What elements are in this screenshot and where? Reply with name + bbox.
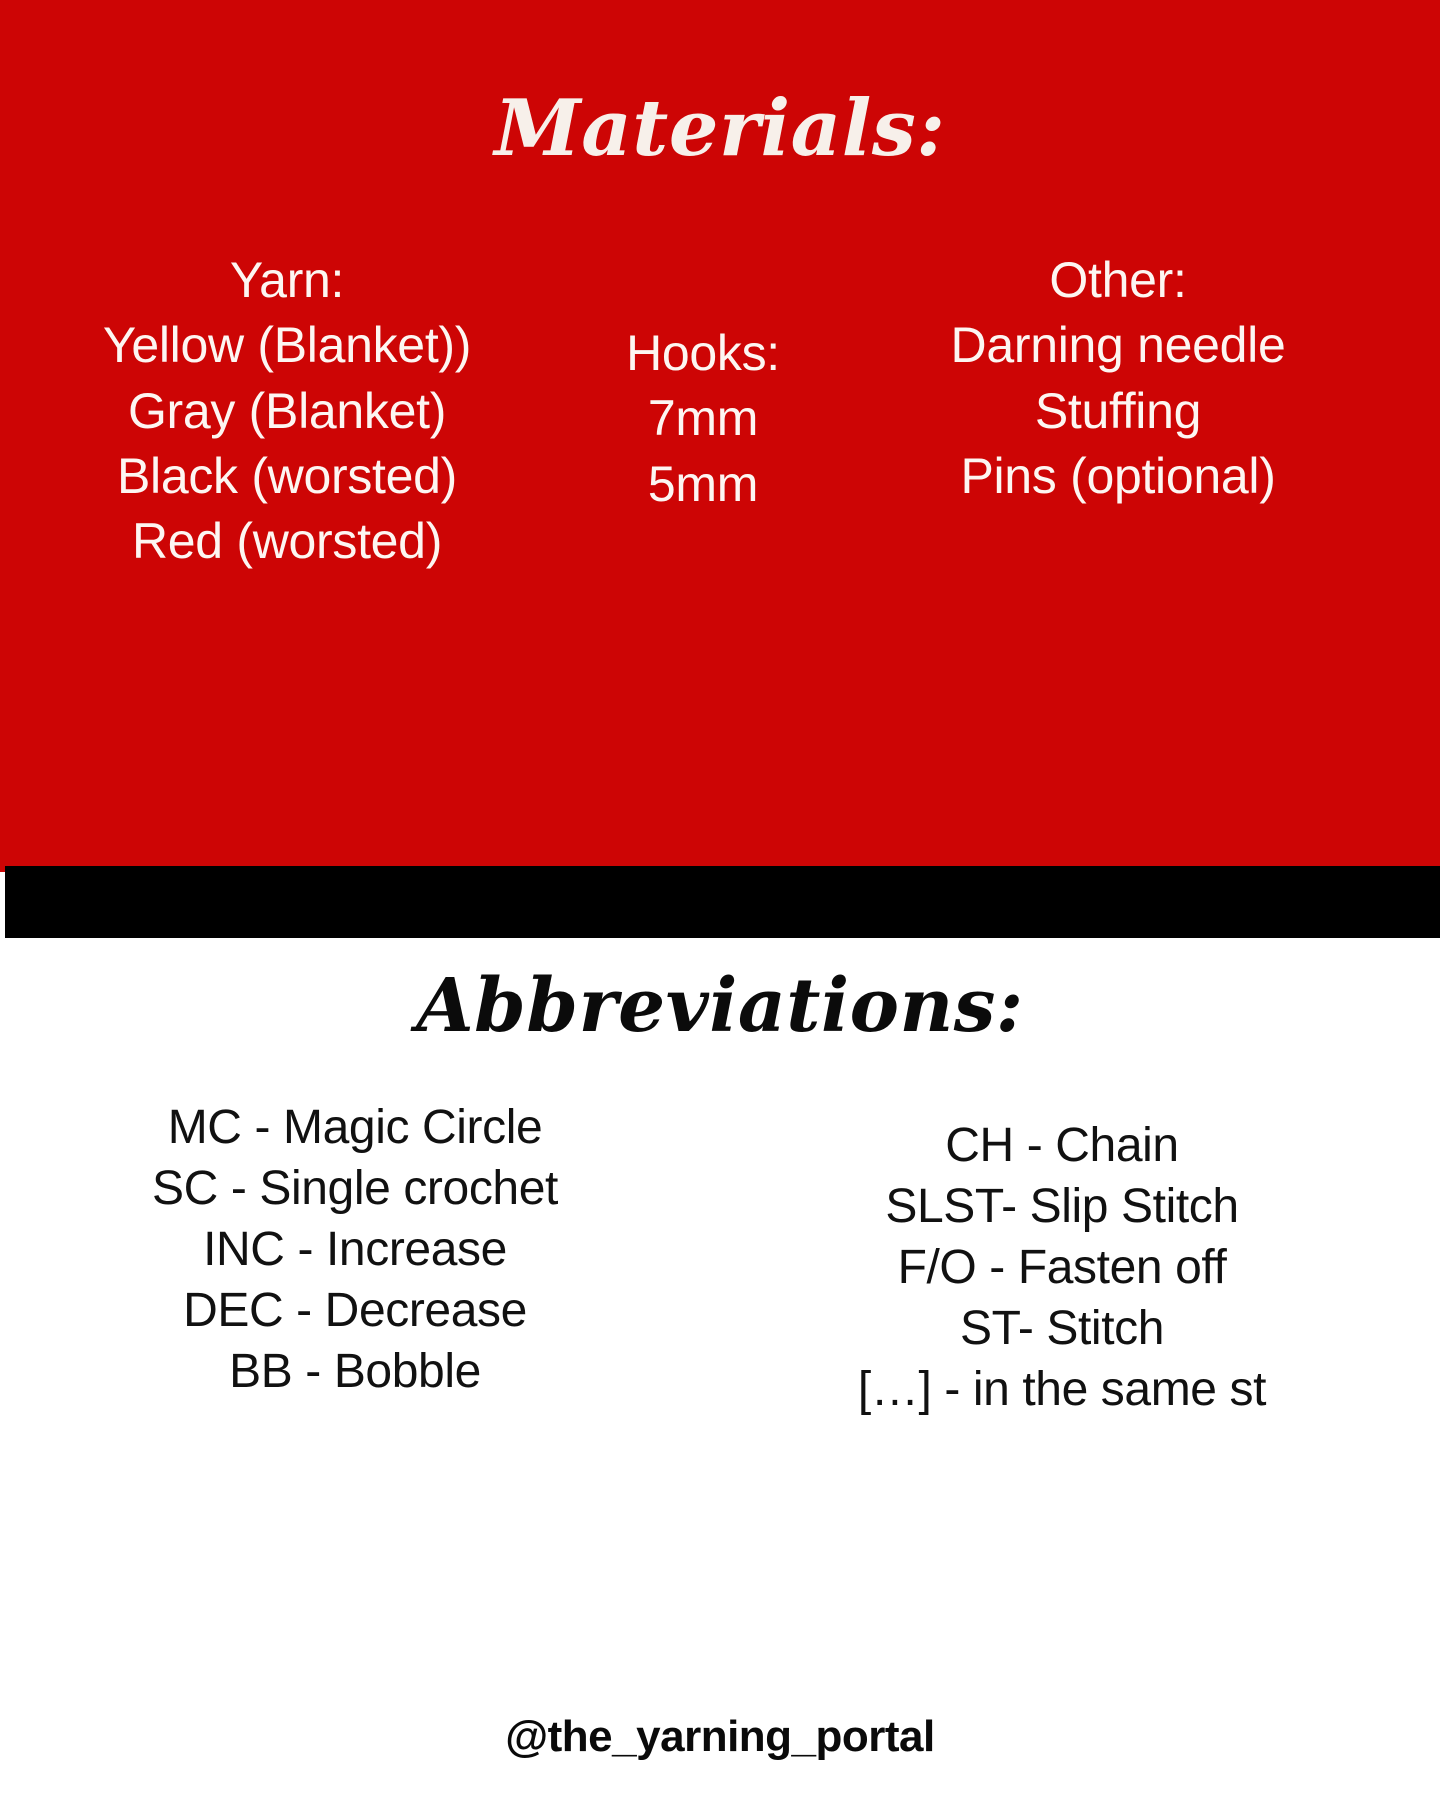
abbreviation-item: F/O - Fasten off (704, 1238, 1420, 1299)
abbreviation-item: CH - Chain (704, 1116, 1420, 1177)
other-heading: Other: (818, 248, 1418, 313)
yarn-item: Yellow (Blanket)) (14, 313, 560, 378)
social-handle: @the_yarning_portal (0, 1712, 1440, 1762)
yarn-item: Black (worsted) (14, 444, 560, 509)
abbreviations-columns: MC - Magic Circle SC - Single crochet IN… (0, 1098, 1440, 1421)
yarn-item: Red (worsted) (14, 509, 560, 574)
abbreviation-item: DEC - Decrease (10, 1281, 700, 1342)
materials-heading: Materials: (0, 88, 1440, 170)
materials-section: Materials: Yarn: Yellow (Blanket)) Gray … (0, 0, 1440, 872)
other-item: Stuffing (818, 379, 1418, 444)
materials-columns: Yarn: Yellow (Blanket)) Gray (Blanket) B… (0, 248, 1440, 574)
materials-column-hooks: Hooks: 7mm 5mm (598, 248, 808, 517)
abbreviations-section: Abbreviations: MC - Magic Circle SC - Si… (0, 938, 1440, 1800)
other-item: Pins (optional) (818, 444, 1418, 509)
materials-column-other: Other: Darning needle Stuffing Pins (opt… (818, 248, 1418, 509)
abbreviations-column-left: MC - Magic Circle SC - Single crochet IN… (0, 1098, 700, 1403)
hooks-item: 5mm (598, 452, 808, 517)
abbreviation-item: BB - Bobble (10, 1342, 700, 1403)
abbreviations-heading: Abbreviations: (0, 968, 1440, 1046)
abbreviation-item: ST- Stitch (704, 1299, 1420, 1360)
yarn-heading: Yarn: (14, 248, 560, 313)
pattern-page: Materials: Yarn: Yellow (Blanket)) Gray … (0, 0, 1440, 1800)
materials-column-yarn: Yarn: Yellow (Blanket)) Gray (Blanket) B… (0, 248, 560, 574)
abbreviation-item: SLST- Slip Stitch (704, 1177, 1420, 1238)
other-item: Darning needle (818, 313, 1418, 378)
section-divider (5, 866, 1440, 938)
abbreviation-item: MC - Magic Circle (10, 1098, 700, 1159)
abbreviation-item: […] - in the same st (704, 1360, 1420, 1421)
yarn-item: Gray (Blanket) (14, 379, 560, 444)
hooks-heading: Hooks: (598, 321, 808, 386)
abbreviation-item: INC - Increase (10, 1220, 700, 1281)
hooks-item: 7mm (598, 386, 808, 451)
abbreviations-column-right: CH - Chain SLST- Slip Stitch F/O - Faste… (700, 1098, 1420, 1421)
abbreviation-item: SC - Single crochet (10, 1159, 700, 1220)
